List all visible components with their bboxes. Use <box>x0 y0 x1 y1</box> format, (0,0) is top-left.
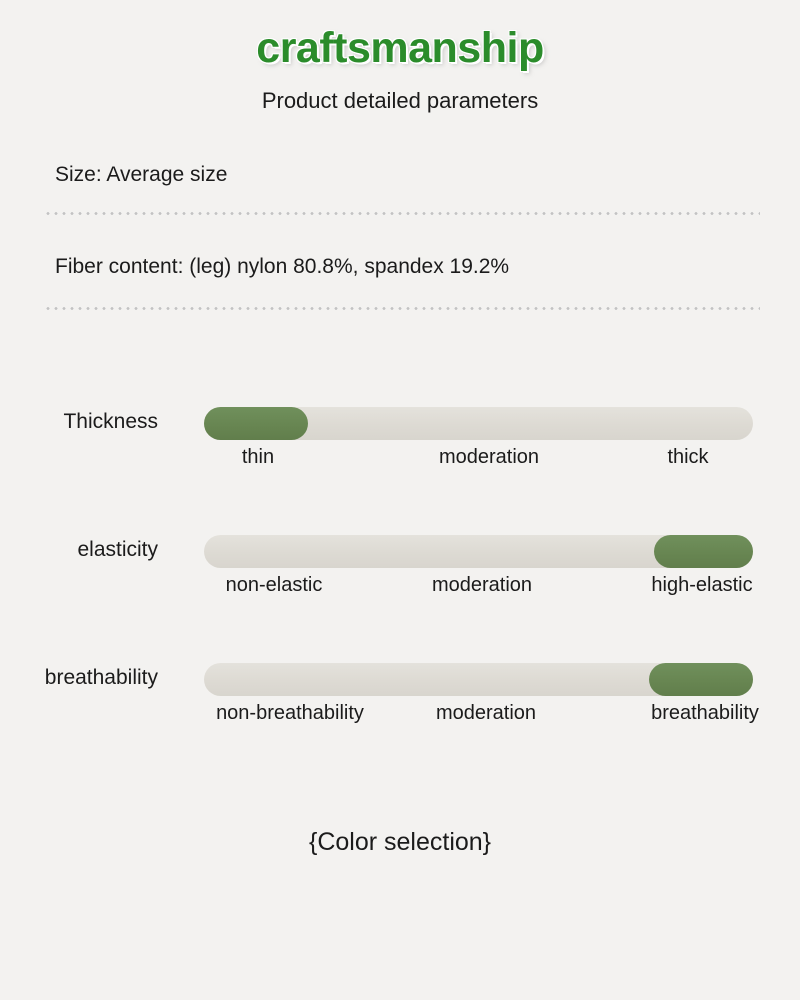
scale-label-high-breathability: breathability <box>651 702 759 725</box>
spec-text-fiber: Fiber content: (leg) nylon 80.8%, spande… <box>0 255 800 279</box>
scale-label-mid-elasticity: moderation <box>432 574 532 597</box>
slider-label-breathability: breathability <box>0 666 158 690</box>
slider-track-breathability[interactable] <box>204 663 753 696</box>
color-selection-note: {Color selection} <box>0 828 800 857</box>
scale-label-mid-breathability: moderation <box>436 702 536 725</box>
scale-label-high-thickness: thick <box>667 446 708 469</box>
slider-track-thickness[interactable] <box>204 407 753 440</box>
scale-label-mid-thickness: moderation <box>439 446 539 469</box>
slider-fill-thickness[interactable] <box>204 407 308 440</box>
page-title: craftsmanship <box>0 24 800 73</box>
spec-row-size: Size: Average size <box>0 163 800 187</box>
slider-label-elasticity: elasticity <box>0 538 158 562</box>
divider-dotted-2 <box>44 307 760 310</box>
scale-label-low-elasticity: non-elastic <box>226 574 323 597</box>
slider-row-elasticity: elasticity non-elastic moderation high-e… <box>0 526 800 616</box>
slider-track-elasticity[interactable] <box>204 535 753 568</box>
slider-label-thickness: Thickness <box>0 410 158 434</box>
slider-scale-thickness: thin moderation thick <box>204 446 764 476</box>
page-subtitle: Product detailed parameters <box>0 88 800 114</box>
product-parameters-page: craftsmanship Product detailed parameter… <box>0 0 800 1000</box>
scale-label-high-elasticity: high-elastic <box>651 574 752 597</box>
slider-row-thickness: Thickness thin moderation thick <box>0 398 800 488</box>
slider-fill-elasticity[interactable] <box>654 535 753 568</box>
slider-scale-elasticity: non-elastic moderation high-elastic <box>204 574 764 604</box>
scale-label-low-breathability: non-breathability <box>216 702 364 725</box>
scale-label-low-thickness: thin <box>242 446 274 469</box>
slider-fill-breathability[interactable] <box>649 663 753 696</box>
divider-dotted-1 <box>44 212 760 215</box>
spec-text-size: Size: Average size <box>0 163 800 187</box>
slider-row-breathability: breathability non-breathability moderati… <box>0 654 800 744</box>
slider-scale-breathability: non-breathability moderation breathabili… <box>204 702 764 732</box>
spec-row-fiber: Fiber content: (leg) nylon 80.8%, spande… <box>0 255 800 279</box>
